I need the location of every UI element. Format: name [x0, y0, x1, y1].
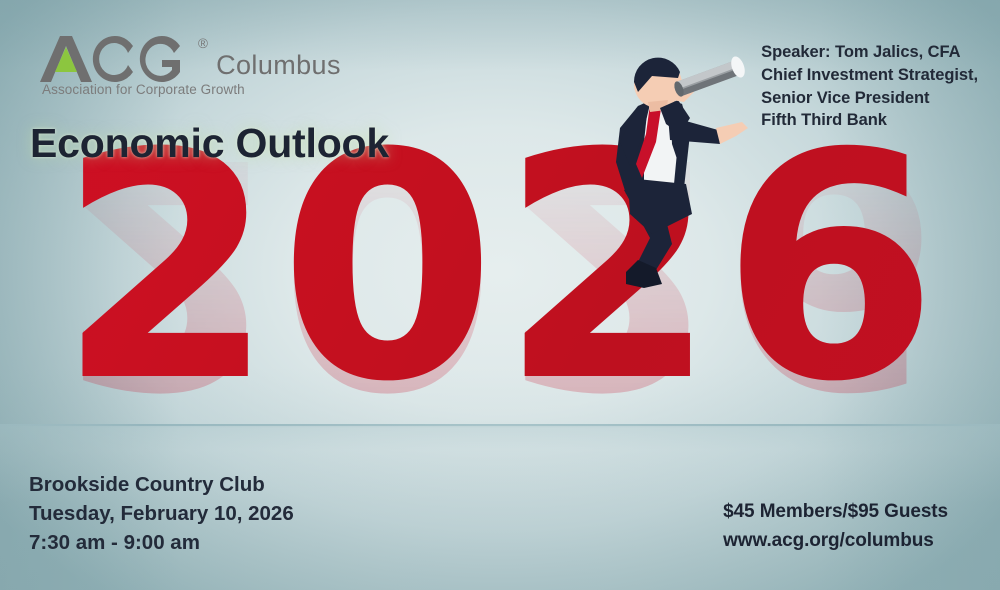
speaker-info: Speaker: Tom Jalics, CFA Chief Investmen…: [761, 41, 978, 132]
website-link[interactable]: www.acg.org/columbus: [723, 527, 948, 556]
logo-city-label: Columbus: [216, 50, 341, 81]
venue-info: Brookside Country Club Tuesday, February…: [29, 470, 294, 557]
pricing-label: $45 Members/$95 Guests: [723, 498, 948, 527]
acg-wordmark-icon: [38, 34, 190, 84]
acg-logo: ® Columbus Association for Corporate Gro…: [38, 34, 341, 97]
businessman-with-telescope-icon: [586, 38, 776, 293]
venue-line: Brookside Country Club: [29, 470, 294, 499]
registered-trademark-icon: ®: [198, 36, 208, 51]
speaker-line: Fifth Third Bank: [761, 109, 978, 132]
venue-line: Tuesday, February 10, 2026: [29, 499, 294, 528]
speaker-line: Chief Investment Strategist,: [761, 64, 978, 87]
speaker-line: Senior Vice President: [761, 87, 978, 110]
venue-line: 7:30 am - 9:00 am: [29, 528, 294, 557]
logo-tagline: Association for Corporate Growth: [42, 82, 341, 97]
speaker-line: Speaker: Tom Jalics, CFA: [761, 41, 978, 64]
event-flyer: 2026 2026 ® Columbus Association for Cor…: [0, 0, 1000, 590]
registration-info: $45 Members/$95 Guests www.acg.org/colum…: [723, 498, 948, 555]
page-title: Economic Outlook: [30, 120, 389, 167]
